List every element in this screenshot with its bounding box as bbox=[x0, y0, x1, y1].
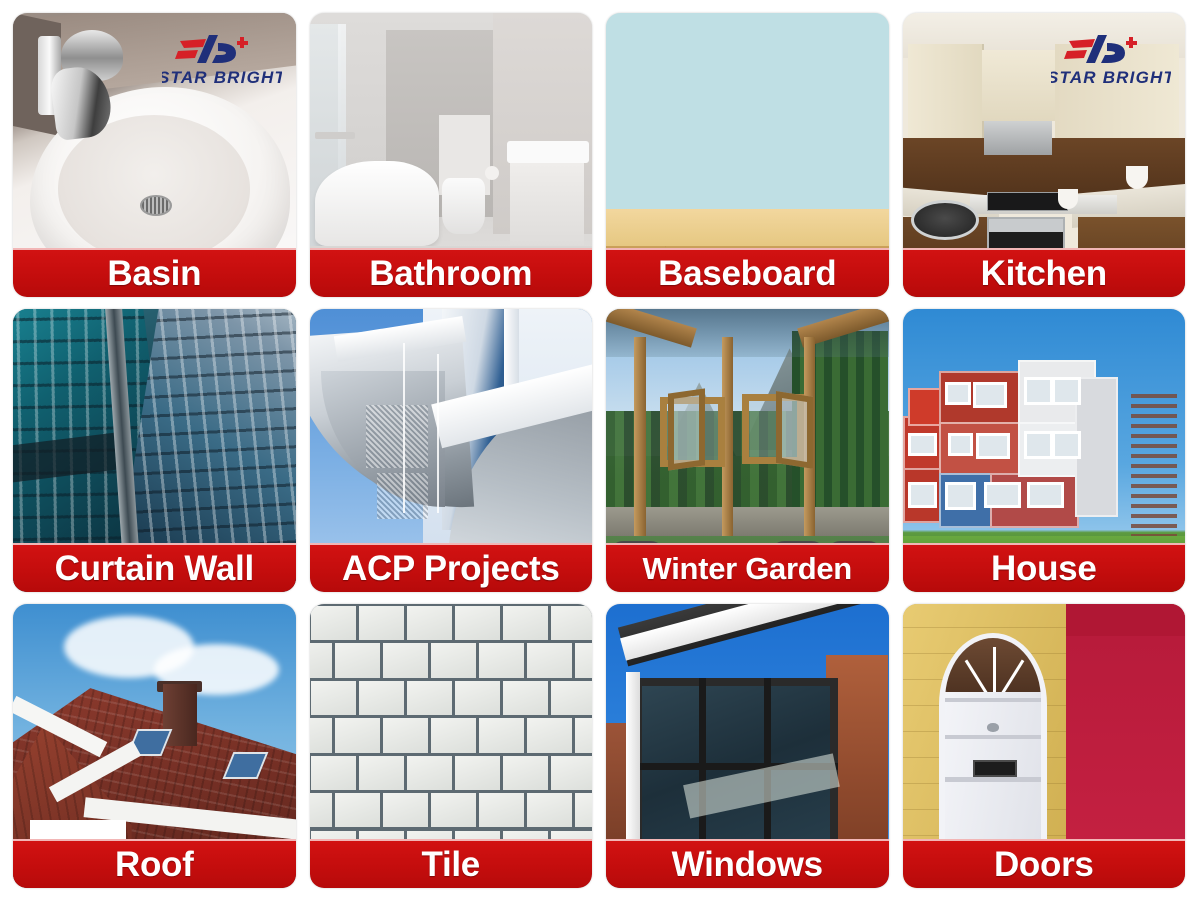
card-label-windows: Windows bbox=[672, 847, 823, 882]
category-card-bathroom[interactable]: Bathroom bbox=[310, 13, 593, 297]
card-label-baseboard: Baseboard bbox=[658, 256, 836, 291]
card-banner-winter-garden: Winter Garden bbox=[606, 543, 889, 592]
category-card-acp-projects[interactable]: ACP Projects bbox=[310, 309, 593, 593]
category-card-kitchen[interactable]: STAR BRIGHT Kitchen bbox=[903, 13, 1186, 297]
card-banner-tile: Tile bbox=[310, 839, 593, 888]
card-banner-roof: Roof bbox=[13, 839, 296, 888]
category-card-winter-garden[interactable]: Winter Garden bbox=[606, 309, 889, 593]
card-label-kitchen: Kitchen bbox=[981, 256, 1107, 291]
card-label-doors: Doors bbox=[994, 847, 1094, 882]
card-banner-doors: Doors bbox=[903, 839, 1186, 888]
card-banner-baseboard: Baseboard bbox=[606, 248, 889, 297]
card-banner-house: House bbox=[903, 543, 1186, 592]
category-card-tile[interactable]: Tile bbox=[310, 604, 593, 888]
product-category-grid: STAR BRIGHT Basin Bathroom Baseboar bbox=[0, 0, 1200, 902]
category-card-doors[interactable]: Doors bbox=[903, 604, 1186, 888]
category-card-basin[interactable]: STAR BRIGHT Basin bbox=[13, 13, 296, 297]
card-banner-curtain-wall: Curtain Wall bbox=[13, 543, 296, 592]
category-card-curtain-wall[interactable]: Curtain Wall bbox=[13, 309, 296, 593]
category-card-roof[interactable]: Roof bbox=[13, 604, 296, 888]
card-label-bathroom: Bathroom bbox=[369, 256, 532, 291]
card-banner-windows: Windows bbox=[606, 839, 889, 888]
card-label-basin: Basin bbox=[107, 256, 201, 291]
card-label-roof: Roof bbox=[115, 847, 194, 882]
category-card-house[interactable]: House bbox=[903, 309, 1186, 593]
category-card-baseboard[interactable]: Baseboard bbox=[606, 13, 889, 297]
card-label-acp-projects: ACP Projects bbox=[342, 551, 560, 586]
card-label-tile: Tile bbox=[422, 847, 480, 882]
card-label-winter-garden: Winter Garden bbox=[643, 553, 852, 584]
card-label-curtain-wall: Curtain Wall bbox=[55, 551, 254, 586]
category-card-windows[interactable]: Windows bbox=[606, 604, 889, 888]
card-banner-basin: Basin bbox=[13, 248, 296, 297]
card-banner-bathroom: Bathroom bbox=[310, 248, 593, 297]
card-label-house: House bbox=[991, 551, 1096, 586]
card-banner-acp-projects: ACP Projects bbox=[310, 543, 593, 592]
card-banner-kitchen: Kitchen bbox=[903, 248, 1186, 297]
